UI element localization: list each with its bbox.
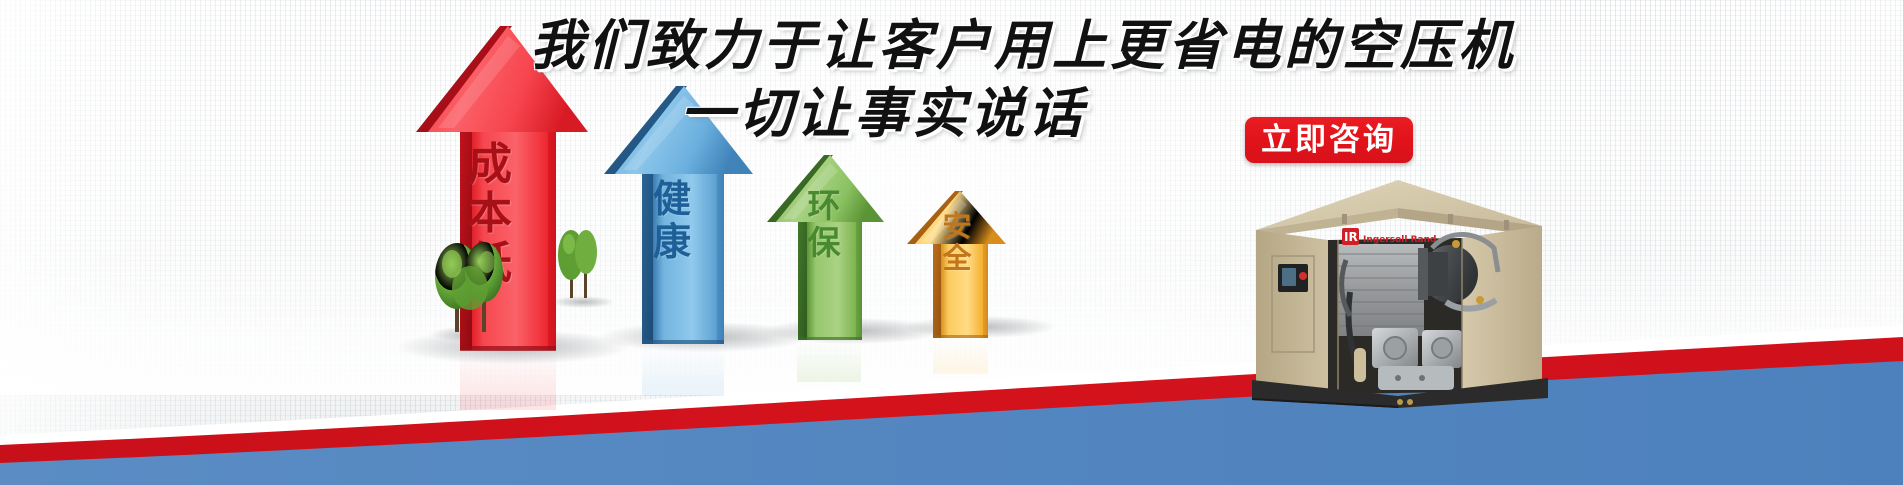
tree-decoration-small: [556, 222, 600, 302]
headline-line-1: 我们致力于让客户用上更省电的空压机: [530, 18, 1310, 72]
tree-decoration-large: [432, 228, 510, 338]
consult-now-label: 立即咨询: [1261, 125, 1397, 156]
svg-text:IR: IR: [1344, 230, 1358, 244]
consult-now-button[interactable]: 立即咨询: [1245, 117, 1413, 163]
headline-line-2: 一切让事实说话: [530, 86, 1310, 140]
arrow-reflection-safety: [933, 338, 988, 374]
air-compressor-machine: IR Ingersoll Rand: [1250, 152, 1550, 408]
headline-block: 我们致力于让客户用上更省电的空压机 一切让事实说话: [530, 18, 1310, 140]
promo-banner: 成本低: [0, 0, 1903, 485]
svg-text:Ingersoll Rand: Ingersoll Rand: [1363, 235, 1436, 245]
arrow-reflection-environment: [797, 340, 861, 382]
brand-logo-ir: IR Ingersoll Rand: [1342, 228, 1436, 245]
arrow-environment: 环保: [762, 152, 912, 340]
arrow-safety: 安全: [903, 188, 1031, 338]
